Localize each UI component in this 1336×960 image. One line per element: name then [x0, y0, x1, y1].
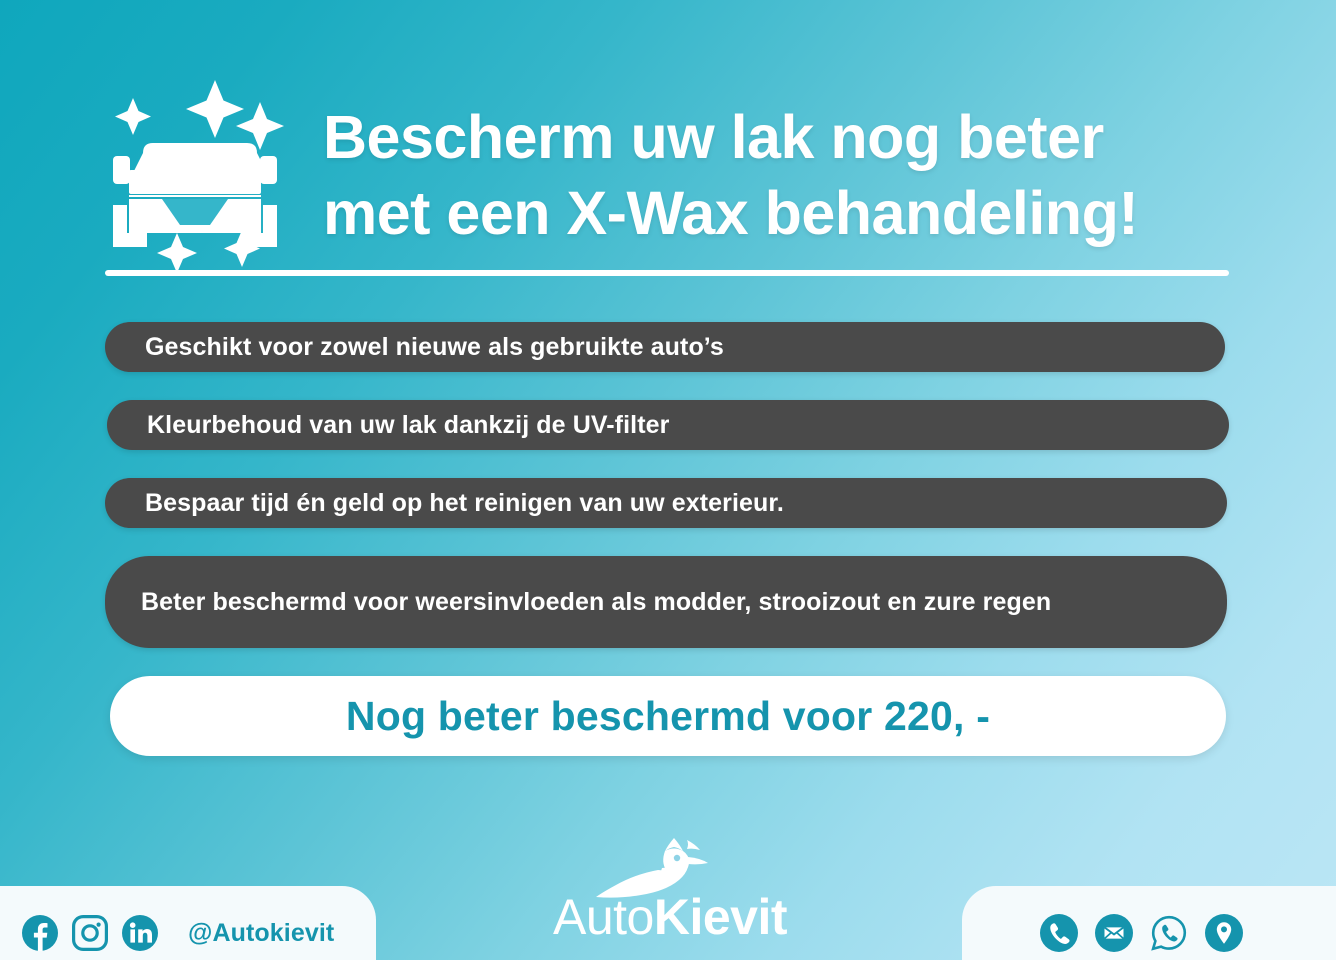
feature-list: Geschikt voor zowel nieuwe als gebruikte… — [105, 322, 1230, 648]
feature-pill: Kleurbehoud van uw lak dankzij de UV-fil… — [107, 400, 1229, 450]
headline-line-2: met een X-Wax behandeling! — [323, 176, 1233, 252]
sparkling-car-icon — [105, 78, 305, 273]
email-icon[interactable] — [1095, 914, 1133, 952]
brand-logo: AutoKievit — [510, 836, 830, 942]
feature-pill-label: Geschikt voor zowel nieuwe als gebruikte… — [145, 333, 724, 362]
brand-name-kievit: Kievit — [654, 889, 787, 945]
promotional-poster: Bescherm uw lak nog beter met een X-Wax … — [0, 0, 1336, 960]
header-divider — [105, 270, 1229, 276]
social-icon-group: @Autokievit — [22, 915, 334, 951]
location-pin-icon[interactable] — [1205, 914, 1243, 952]
headline-line-1: Bescherm uw lak nog beter — [323, 100, 1233, 176]
header: Bescherm uw lak nog beter met een X-Wax … — [105, 72, 1235, 282]
feature-pill: Bespaar tijd én geld op het reinigen van… — [105, 478, 1227, 528]
price-banner-label: Nog beter beschermd voor 220, - — [346, 693, 990, 740]
feature-pill-label: Kleurbehoud van uw lak dankzij de UV-fil… — [147, 411, 669, 440]
footer-contact-panel — [962, 886, 1336, 960]
page-title: Bescherm uw lak nog beter met een X-Wax … — [323, 100, 1233, 251]
contact-icon-group — [1040, 914, 1243, 952]
feature-pill: Beter beschermd voor weersinvloeden als … — [105, 556, 1227, 648]
feature-pill-label: Beter beschermd voor weersinvloeden als … — [141, 586, 1051, 619]
facebook-icon[interactable] — [22, 915, 58, 951]
feature-pill-label: Bespaar tijd én geld op het reinigen van… — [145, 489, 784, 518]
feature-pill: Geschikt voor zowel nieuwe als gebruikte… — [105, 322, 1225, 372]
linkedin-icon[interactable] — [122, 915, 158, 951]
brand-name-auto: Auto — [553, 889, 654, 945]
whatsapp-icon[interactable] — [1150, 914, 1188, 952]
social-handle[interactable]: @Autokievit — [188, 919, 334, 948]
footer-social-panel: @Autokievit — [0, 886, 376, 960]
price-banner: Nog beter beschermd voor 220, - — [110, 676, 1226, 756]
phone-icon[interactable] — [1040, 914, 1078, 952]
brand-name: AutoKievit — [510, 892, 830, 942]
instagram-icon[interactable] — [72, 915, 108, 951]
